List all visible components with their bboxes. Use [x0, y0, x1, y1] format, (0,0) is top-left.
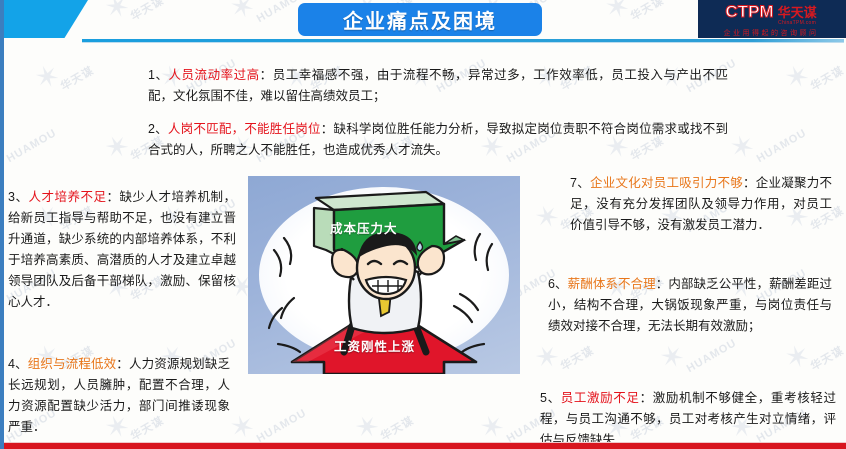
- logo-latin-text: CTPM: [725, 2, 773, 22]
- left-blue-rail: [0, 0, 4, 449]
- pain-point-5: 5、员工激励不足：激励机制不够健全，重考核轻过程，与员工沟通不够，员工对考核产生…: [540, 388, 836, 449]
- header-trapezoid-shape: [4, 0, 88, 38]
- item-heading: 薪酬体系不合理: [568, 277, 656, 291]
- pain-point-4: 4、组织与流程低效：人力资源规划缺乏长远规划，人员臃肿，配置不合理，人力资源配置…: [8, 354, 230, 438]
- logo-wordmark: CTPM 华天谋 ChinaTPM.com: [725, 2, 816, 26]
- slide-header: 企业痛点及困境 CTPM 华天谋 ChinaTPM.com 企业用得起的咨询顾问: [0, 0, 846, 46]
- illustration-label-cost-pressure: 成本压力大: [330, 218, 398, 237]
- page-title: 企业痛点及困境: [343, 5, 497, 34]
- item-colon: ：: [116, 357, 129, 371]
- item-colon: ：: [640, 391, 653, 405]
- slide-root: ✶HUAMOU✶华天谋✶HUAMOU✶华天谋✶HUAMOU✶华天谋✶HUAMOU…: [0, 0, 846, 449]
- illustration-label-wage-rise: 工资刚性上涨: [334, 336, 415, 355]
- item-number: 7、: [570, 176, 590, 190]
- logo-chinese-text: 华天谋: [778, 2, 817, 21]
- logo-tagline: 企业用得起的咨询顾问: [724, 28, 819, 38]
- logo-domain-text: ChinaTPM.com: [778, 20, 816, 26]
- pain-point-7: 7、企业文化对员工吸引力不够：企业凝聚力不足，没有充分发挥团队及领导力作用，对员…: [570, 173, 832, 236]
- item-number: 1、: [148, 68, 169, 82]
- item-heading: 人员流动率过高: [169, 68, 260, 82]
- item-heading: 企业文化对员工吸引力不够: [590, 176, 743, 190]
- item-colon: ：: [656, 277, 669, 291]
- slide-content: 1、人员流动率过高：员工幸福感不强，由于流程不畅，异常过多，工作效率低，员工投入…: [0, 0, 846, 449]
- item-number: 5、: [540, 391, 561, 405]
- item-heading: 员工激励不足: [561, 391, 640, 405]
- pain-point-2: 2、人岗不匹配，不能胜任岗位：缺科学岗位胜任能力分析，导致拟定岗位责职不符合岗位…: [148, 119, 728, 161]
- pain-point-1: 1、人员流动率过高：员工幸福感不强，由于流程不畅，异常过多，工作效率低，员工投入…: [148, 65, 728, 107]
- item-heading: 人才培养不足: [28, 190, 106, 204]
- item-number: 6、: [548, 277, 568, 291]
- item-colon: ：: [743, 176, 756, 190]
- item-heading: 人岗不匹配，不能胜任岗位: [168, 122, 321, 136]
- item-number: 4、: [8, 357, 28, 371]
- pain-point-6: 6、薪酬体系不合理：内部缺乏公平性，薪酬差距过小，结构不合理，大锅饭现象严重，与…: [548, 274, 832, 337]
- header-rule-thin: [82, 42, 844, 43]
- central-illustration: 成本压力大 工资刚性上涨: [248, 176, 520, 374]
- item-colon: ：: [321, 122, 334, 136]
- item-colon: ：: [106, 190, 119, 204]
- item-number: 3、: [8, 190, 28, 204]
- bottom-red-bar: [4, 443, 846, 449]
- item-colon: ：: [260, 68, 273, 82]
- pain-point-3: 3、人才培养不足：缺少人才培养机制，给新员工指导与帮助不足，也没有建立晋升通道，…: [8, 187, 236, 313]
- company-logo: CTPM 华天谋 ChinaTPM.com 企业用得起的咨询顾问: [702, 3, 840, 36]
- slide-title-pill: 企业痛点及困境: [298, 3, 542, 36]
- item-heading: 组织与流程低效: [28, 357, 117, 371]
- item-number: 2、: [148, 122, 168, 136]
- item-body: 缺少人才培养机制，给新员工指导与帮助不足，也没有建立晋升通道，缺少系统的内部培养…: [8, 190, 236, 309]
